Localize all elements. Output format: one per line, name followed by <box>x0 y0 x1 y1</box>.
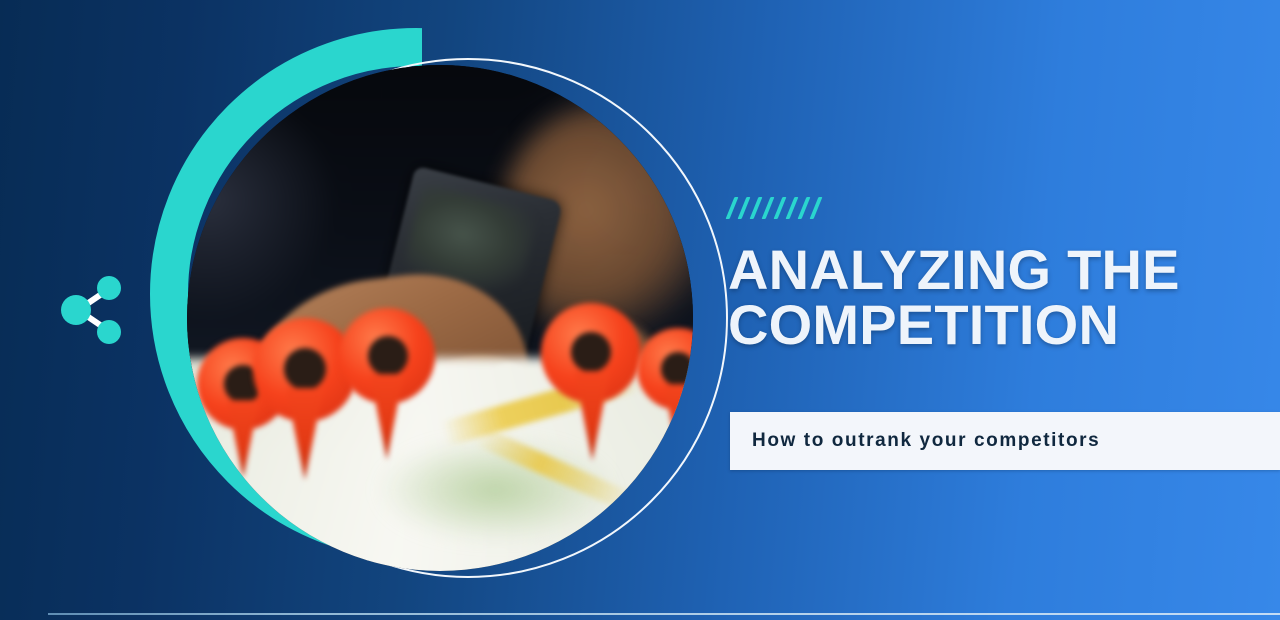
subtitle-text: How to outrank your competitors <box>752 430 1100 452</box>
share-network-icon <box>56 272 128 348</box>
bottom-divider <box>48 613 1280 615</box>
subtitle-bar: How to outrank your competitors <box>730 412 1280 470</box>
hero-photo <box>187 65 693 571</box>
slash-icon <box>738 197 751 219</box>
slash-decoration <box>730 197 818 221</box>
page-title-line-1: ANALYZING THE <box>728 243 1248 298</box>
page-title: ANALYZING THE COMPETITION <box>728 243 1248 353</box>
map-pin <box>637 328 693 464</box>
map-pin <box>339 308 451 466</box>
slash-icon <box>786 197 799 219</box>
slash-icon <box>798 197 811 219</box>
slash-icon <box>750 197 763 219</box>
slash-icon <box>810 197 823 219</box>
slash-icon <box>726 197 739 219</box>
page-title-line-2: COMPETITION <box>728 298 1248 353</box>
slide-canvas: ANALYZING THE COMPETITION How to outrank… <box>0 0 1280 620</box>
slash-icon <box>774 197 787 219</box>
slash-icon <box>762 197 775 219</box>
media-cluster <box>150 28 690 588</box>
